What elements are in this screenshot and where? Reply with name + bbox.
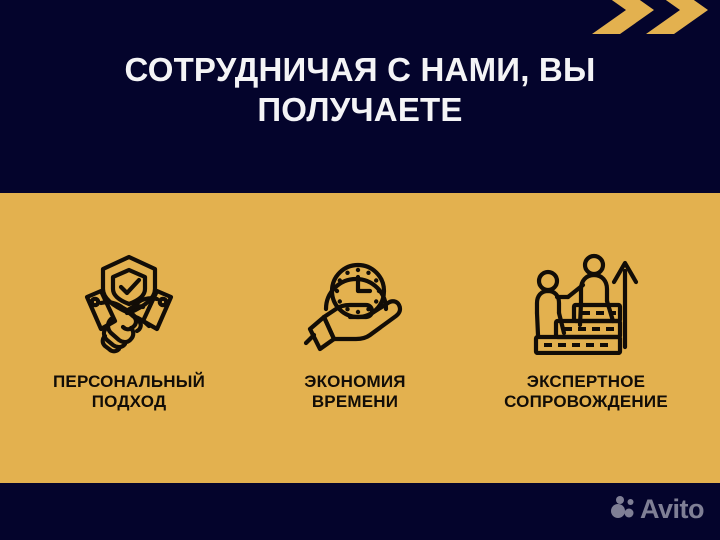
feature-personal-approach: ПЕРСОНАЛЬНЫЙ ПОДХОД	[14, 248, 244, 413]
feature-expert-support: ЭКСПЕРТНОЕ СОПРОВОЖДЕНИЕ	[466, 248, 706, 413]
handshake-shield-check-icon	[69, 248, 189, 358]
promo-slide: СОТРУДНИЧАЯ С НАМИ, ВЫ ПОЛУЧАЕТЕ	[0, 0, 720, 540]
title-line-2: ПОЛУЧАЕТЕ	[0, 90, 720, 130]
avito-wordmark: Avito	[640, 496, 704, 523]
features-band: ПЕРСОНАЛЬНЫЙ ПОДХОД	[0, 193, 720, 483]
features-list: ПЕРСОНАЛЬНЫЙ ПОДХОД	[0, 193, 720, 483]
clock-in-hand-icon	[295, 248, 415, 358]
header-banner: СОТРУДНИЧАЯ С НАМИ, ВЫ ПОЛУЧАЕТЕ	[0, 0, 720, 193]
title-line-1: СОТРУДНИЧАЯ С НАМИ, ВЫ	[0, 50, 720, 90]
avito-watermark: Avito	[610, 495, 704, 524]
feature-label: ЭКОНОМИЯ ВРЕМЕНИ	[260, 372, 450, 413]
avito-dots-logo-icon	[610, 495, 636, 524]
mentor-stairs-arrow-icon	[526, 248, 646, 358]
page-title: СОТРУДНИЧАЯ С НАМИ, ВЫ ПОЛУЧАЕТЕ	[0, 50, 720, 131]
double-chevron-right-icon	[590, 0, 708, 34]
feature-time-saving: ЭКОНОМИЯ ВРЕМЕНИ	[244, 248, 466, 413]
feature-label: ПЕРСОНАЛЬНЫЙ ПОДХОД	[14, 372, 244, 413]
footer-bar: Avito	[0, 483, 720, 540]
feature-label: ЭКСПЕРТНОЕ СОПРОВОЖДЕНИЕ	[466, 372, 706, 413]
